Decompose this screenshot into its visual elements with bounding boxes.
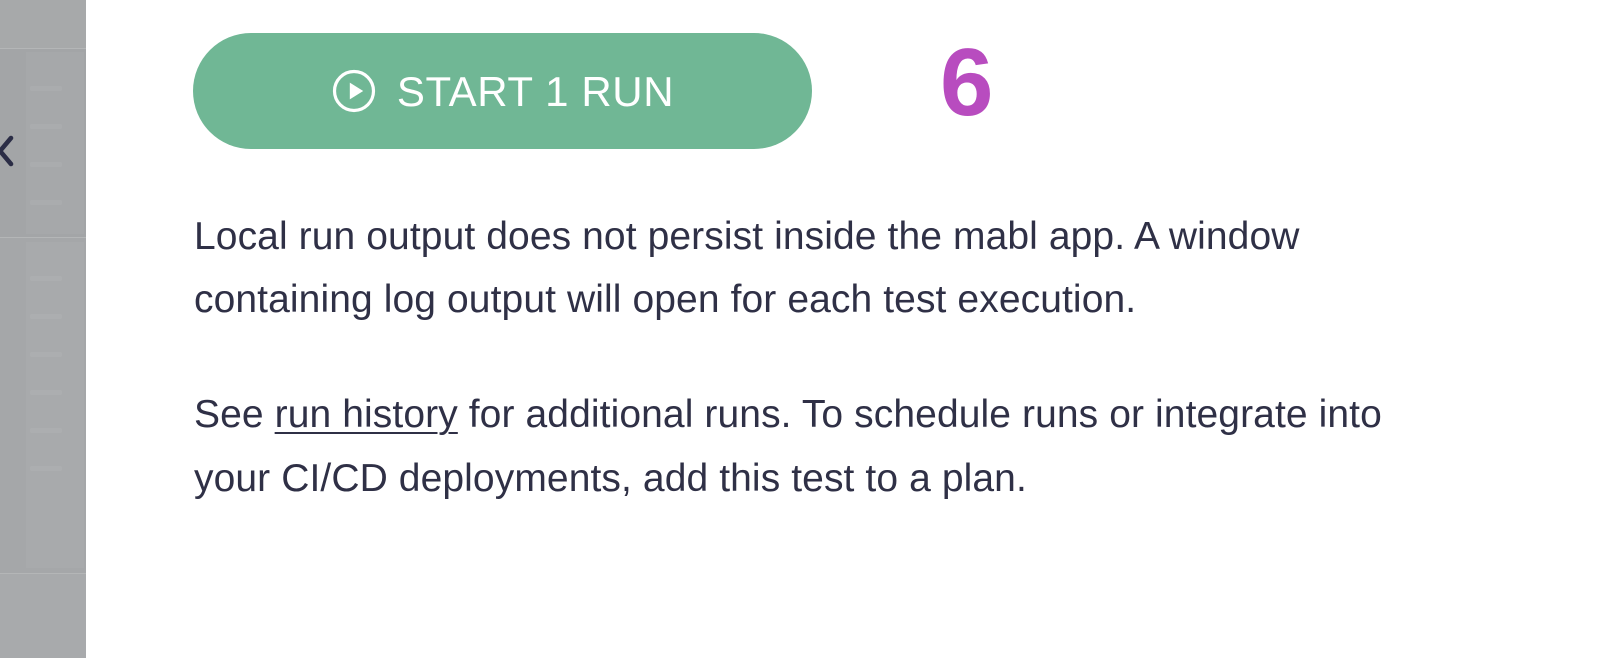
- sidebar-ghost-column-upper: [26, 52, 84, 234]
- sidebar-divider: [0, 573, 86, 574]
- run-history-link[interactable]: run history: [275, 393, 458, 436]
- step-annotation-6: 6: [940, 35, 993, 131]
- app-screen: START 1 RUN 6 Local run output does not …: [0, 0, 1600, 658]
- sidebar-ghost-item: [30, 352, 62, 357]
- sidebar-ghost-item: [30, 124, 62, 129]
- sidebar-ghost-item: [30, 390, 62, 395]
- sidebar-ghost-item: [30, 276, 62, 281]
- primary-action-row: START 1 RUN 6: [193, 33, 993, 149]
- sidebar-divider: [0, 237, 86, 238]
- local-run-panel: START 1 RUN 6 Local run output does not …: [86, 0, 1600, 658]
- chevron-left-icon[interactable]: [0, 133, 17, 169]
- play-circle-icon: [331, 68, 377, 114]
- paragraph-text: Local run output does not persist inside…: [194, 215, 1300, 321]
- sidebar-ghost-item: [30, 162, 62, 167]
- sidebar-ghost-item: [30, 466, 62, 471]
- sidebar-ghost-column-lower: [26, 242, 84, 568]
- sidebar-section-top: [0, 0, 86, 48]
- paragraph-local-run-output: Local run output does not persist inside…: [194, 205, 1404, 331]
- paragraph-run-history: See run history for additional runs. To …: [194, 383, 1404, 509]
- sidebar-ghost-item: [30, 86, 62, 91]
- sidebar-section-bottom: [0, 574, 86, 658]
- start-run-label: START 1 RUN: [397, 71, 674, 113]
- dimmed-sidebar-strip: [0, 0, 86, 658]
- paragraph-text-lead: See: [194, 393, 275, 436]
- sidebar-divider: [0, 48, 86, 49]
- local-run-description: Local run output does not persist inside…: [194, 205, 1404, 510]
- sidebar-ghost-item: [30, 428, 62, 433]
- start-run-button[interactable]: START 1 RUN: [193, 33, 812, 149]
- sidebar-ghost-item: [30, 200, 62, 205]
- sidebar-ghost-item: [30, 314, 62, 319]
